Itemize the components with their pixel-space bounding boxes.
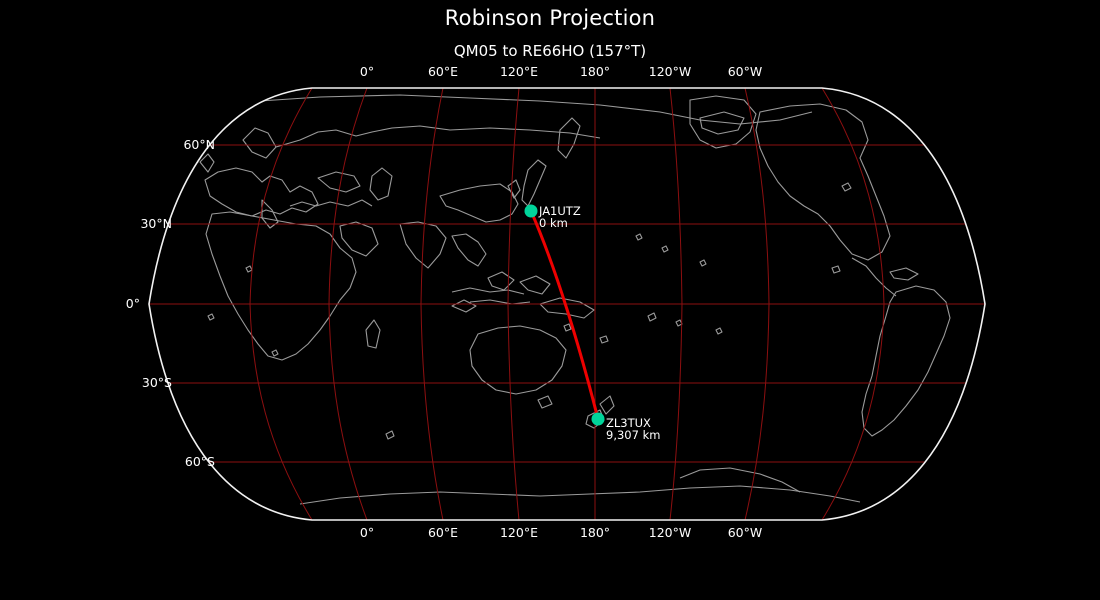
lon-tick-bottom-3: 180°: [580, 525, 610, 540]
lon-tick-bottom-4: 120°W: [649, 525, 691, 540]
lat-tick-0: 0°: [126, 296, 140, 311]
lon-tick-bottom-5: 60°W: [728, 525, 763, 540]
lon-tick-bottom-0: 0°: [360, 525, 374, 540]
station-dot-icon[interactable]: [525, 205, 538, 218]
lon-ticks-top: 0° 60°E 120°E 180° 120°W 60°W: [360, 64, 762, 79]
lon-tick-top-2: 120°E: [500, 64, 538, 79]
lat-tick-30s: 30°S: [142, 375, 172, 390]
lon-tick-bottom-1: 60°E: [428, 525, 458, 540]
lon-tick-bottom-2: 120°E: [500, 525, 538, 540]
lon-tick-top-3: 180°: [580, 64, 610, 79]
lon-tick-top-5: 60°W: [728, 64, 763, 79]
lat-tick-60n: 60°N: [183, 137, 215, 152]
station-dot-icon[interactable]: [592, 413, 605, 426]
lon-tick-top-1: 60°E: [428, 64, 458, 79]
station-distance-label-1: 9,307 km: [606, 428, 660, 442]
lat-tick-30n: 30°N: [140, 216, 172, 231]
lat-tick-60s: 60°S: [185, 454, 215, 469]
station-distance-label-0: 0 km: [539, 216, 568, 230]
robinson-map-canvas: 0° 60°E 120°E 180° 120°W 60°W 0° 60°E 12…: [0, 0, 1100, 600]
map-face: [130, 80, 1000, 530]
lon-tick-top-4: 120°W: [649, 64, 691, 79]
lon-ticks-bottom: 0° 60°E 120°E 180° 120°W 60°W: [360, 525, 762, 540]
map-figure: Robinson Projection QM05 to RE66HO (157°…: [0, 0, 1100, 600]
lon-tick-top-0: 0°: [360, 64, 374, 79]
